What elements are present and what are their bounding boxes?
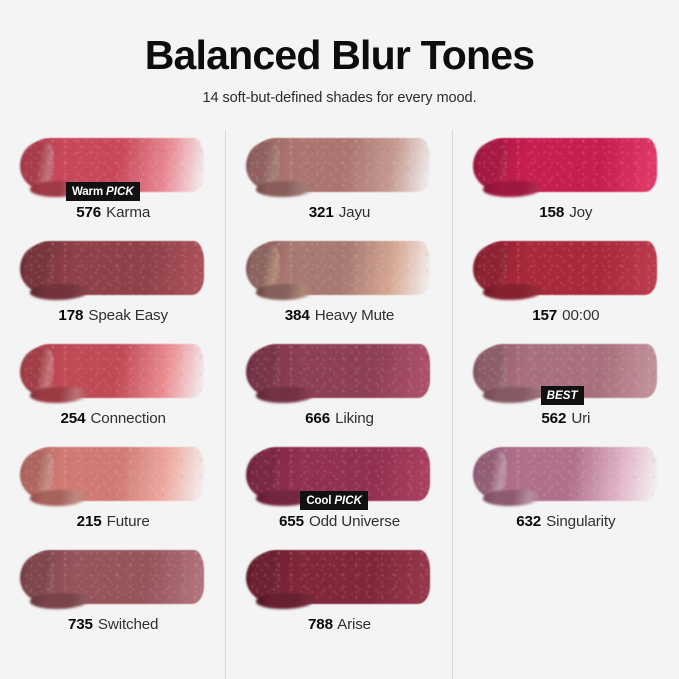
page-subtitle: 14 soft-but-defined shades for every moo…: [0, 90, 679, 106]
lipstick-swatch: [250, 241, 430, 295]
badge-suffix: PICK: [334, 494, 362, 507]
shade-cell[interactable]: 384 Heavy Mute: [226, 233, 452, 336]
shade-column: 321 Jayu384 Heavy Mute666 LikingCool PIC…: [226, 130, 452, 679]
shade-label: 254 Connection: [0, 410, 226, 427]
lipstick-swatch: [250, 138, 430, 192]
shade-cell[interactable]: 178 Speak Easy: [0, 233, 226, 336]
shade-cell[interactable]: 321 Jayu: [226, 130, 452, 233]
shade-name: Heavy Mute: [311, 307, 395, 324]
swatch-wrap: [453, 130, 679, 202]
shade-label: 576 Karma: [0, 204, 226, 221]
shade-number: 655: [279, 513, 304, 530]
shade-label: 632 Singularity: [453, 513, 679, 530]
badge-suffix: BEST: [547, 389, 578, 402]
lipstick-swatch: [24, 344, 204, 398]
shade-label: 788 Arise: [226, 616, 452, 633]
shade-number: 788: [308, 616, 333, 633]
shade-label: 735 Switched: [0, 616, 226, 633]
swatch-texture: [24, 241, 204, 295]
shade-cell[interactable]: 666 Liking: [226, 336, 452, 439]
swatch-wrap: [0, 542, 226, 614]
swatch-texture: [24, 550, 204, 604]
shade-cell[interactable]: Warm PICK576 Karma: [0, 130, 226, 233]
shade-label: 384 Heavy Mute: [226, 307, 452, 324]
shade-badge: Cool PICK: [300, 491, 368, 510]
lipstick-swatch: [477, 241, 657, 295]
shade-label: 562 Uri: [453, 410, 679, 427]
swatch-texture: [24, 344, 204, 398]
lipstick-swatch: [250, 550, 430, 604]
shade-name: Arise: [334, 616, 371, 633]
shade-cell[interactable]: 788 Arise: [226, 542, 452, 645]
header: Balanced Blur Tones 14 soft-but-defined …: [0, 34, 679, 106]
shade-label: 158 Joy: [453, 204, 679, 221]
shade-cell[interactable]: 254 Connection: [0, 336, 226, 439]
swatch-texture: [477, 138, 657, 192]
badge-suffix: PICK: [106, 185, 134, 198]
shade-number: 666: [305, 410, 330, 427]
swatch-wrap: [226, 542, 452, 614]
shade-label: 215 Future: [0, 513, 226, 530]
lipstick-swatch: [24, 447, 204, 501]
swatch-wrap: [226, 130, 452, 202]
swatch-wrap: [0, 336, 226, 408]
lipstick-swatch: [477, 447, 657, 501]
swatch-wrap: [0, 233, 226, 305]
swatch-texture: [250, 241, 430, 295]
shade-name: Singularity: [542, 513, 615, 530]
shade-name: Joy: [565, 204, 592, 221]
swatch-texture: [250, 138, 430, 192]
swatch-texture: [250, 344, 430, 398]
swatch-wrap: [0, 439, 226, 511]
shade-number: 321: [309, 204, 334, 221]
shade-cell[interactable]: 157 00:00: [453, 233, 679, 336]
shade-name: 00:00: [558, 307, 599, 324]
swatch-texture: [250, 550, 430, 604]
swatch-wrap: [453, 233, 679, 305]
shade-name: Karma: [102, 204, 150, 221]
swatch-texture: [477, 241, 657, 295]
lipstick-swatch: [24, 550, 204, 604]
swatch-wrap: [453, 439, 679, 511]
shade-column: 158 Joy157 00:00BEST562 Uri632 Singulari…: [453, 130, 679, 679]
badge-prefix: Warm: [72, 185, 106, 198]
shade-name: Speak Easy: [84, 307, 168, 324]
shade-cell[interactable]: 632 Singularity: [453, 439, 679, 542]
badge-prefix: Cool: [306, 494, 334, 507]
lipstick-swatch: [24, 241, 204, 295]
shade-number: 178: [58, 307, 83, 324]
shade-grid: Warm PICK576 Karma178 Speak Easy254 Conn…: [0, 130, 679, 679]
shade-number: 735: [68, 616, 93, 633]
shade-number: 384: [285, 307, 310, 324]
shade-badge: BEST: [541, 386, 584, 405]
shade-number: 157: [532, 307, 557, 324]
shade-cell[interactable]: Cool PICK655 Odd Universe: [226, 439, 452, 542]
shade-number: 632: [516, 513, 541, 530]
shade-number: 562: [541, 410, 566, 427]
shade-cell[interactable]: 158 Joy: [453, 130, 679, 233]
shade-name: Uri: [567, 410, 590, 427]
shade-badge: Warm PICK: [66, 182, 140, 201]
shade-name: Odd Universe: [305, 513, 400, 530]
shade-name: Switched: [94, 616, 159, 633]
shade-label: 321 Jayu: [226, 204, 452, 221]
lipstick-swatch: [477, 138, 657, 192]
shade-label: 655 Odd Universe: [226, 513, 452, 530]
shade-name: Connection: [86, 410, 165, 427]
shade-number: 254: [61, 410, 86, 427]
swatch-texture: [24, 447, 204, 501]
shade-chart-page: Balanced Blur Tones 14 soft-but-defined …: [0, 0, 679, 679]
shade-cell[interactable]: BEST562 Uri: [453, 336, 679, 439]
shade-name: Jayu: [335, 204, 371, 221]
shade-column: Warm PICK576 Karma178 Speak Easy254 Conn…: [0, 130, 226, 679]
swatch-wrap: [226, 336, 452, 408]
shade-label: 157 00:00: [453, 307, 679, 324]
shade-label: 666 Liking: [226, 410, 452, 427]
page-title: Balanced Blur Tones: [0, 34, 679, 77]
shade-cell[interactable]: 735 Switched: [0, 542, 226, 645]
swatch-wrap: [226, 233, 452, 305]
shade-name: Liking: [331, 410, 374, 427]
shade-name: Future: [103, 513, 150, 530]
shade-number: 576: [76, 204, 101, 221]
shade-number: 158: [539, 204, 564, 221]
lipstick-swatch: [250, 344, 430, 398]
shade-cell[interactable]: 215 Future: [0, 439, 226, 542]
swatch-texture: [477, 447, 657, 501]
shade-number: 215: [77, 513, 102, 530]
shade-label: 178 Speak Easy: [0, 307, 226, 324]
